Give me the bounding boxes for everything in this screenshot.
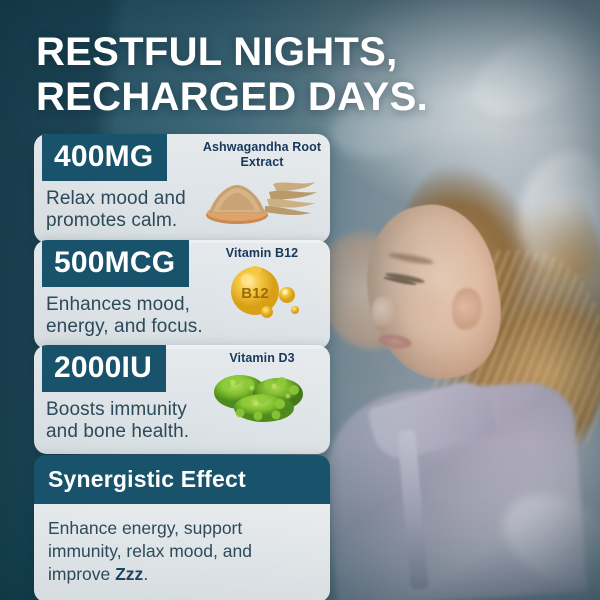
b12-golden-droplet-icon: B12: [200, 263, 324, 319]
synergy-body-part2: .: [143, 564, 148, 584]
dose-badge: 500MCG: [42, 240, 189, 287]
ingredient-block: Ashwagandha Root Extract: [200, 140, 324, 228]
headline-line-1: RESTFUL NIGHTS,: [36, 30, 398, 74]
ingredient-label: Vitamin B12: [200, 246, 324, 261]
benefit-card-d3: 2000IU Boosts immunity and bone health. …: [34, 345, 330, 454]
marketing-graphic: RESTFUL NIGHTS, RECHARGED DAYS. 400MG Re…: [0, 0, 600, 600]
dose-badge: 400MG: [42, 134, 167, 181]
green-lichen-moss-icon: [200, 368, 324, 424]
ingredient-label: Ashwagandha Root Extract: [200, 140, 324, 170]
ashwagandha-root-powder-icon: [200, 172, 324, 228]
synergy-body-part1: Enhance energy, support immunity, relax …: [48, 518, 252, 584]
ingredient-block: Vitamin B12: [200, 246, 324, 319]
page-title: RESTFUL NIGHTS, RECHARGED DAYS.: [36, 30, 506, 120]
synergy-title: Synergistic Effect: [34, 455, 330, 504]
ingredient-block: Vitamin D3: [200, 351, 324, 424]
benefit-description: Boosts immunity and bone health.: [46, 399, 221, 444]
ingredient-label: Vitamin D3: [200, 351, 324, 366]
benefit-description: Relax mood and promotes calm.: [46, 188, 221, 233]
droplet-text: B12: [241, 285, 269, 302]
dose-badge: 2000IU: [42, 345, 166, 392]
synergy-card: Synergistic Effect Enhance energy, suppo…: [34, 455, 330, 600]
benefit-description: Enhances mood, energy, and focus.: [46, 294, 221, 339]
synergy-body-bold: Zzz: [115, 564, 143, 584]
benefit-card-ashwagandha: 400MG Relax mood and promotes calm. Ashw…: [34, 134, 330, 243]
synergy-body: Enhance energy, support immunity, relax …: [34, 504, 330, 600]
headline-line-2: RECHARGED DAYS.: [36, 75, 506, 120]
benefit-card-b12: 500MCG Enhances mood, energy, and focus.…: [34, 240, 330, 349]
